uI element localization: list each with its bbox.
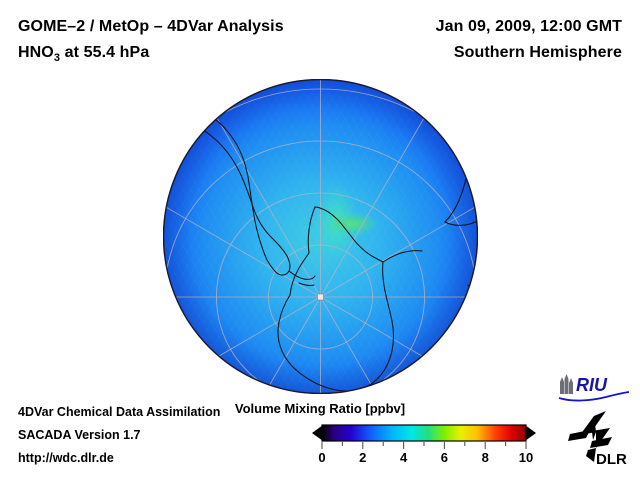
riu-wordmark: RIU — [576, 375, 608, 395]
footer-line-url: http://wdc.dlr.de — [18, 447, 220, 470]
riu-logo: RIU — [558, 372, 630, 402]
graticule-meridians — [163, 79, 478, 394]
colorbar-gradient — [312, 424, 536, 450]
region-label: Southern Hemisphere — [436, 40, 622, 66]
header-left: GOME–2 / MetOp – 4DVar Analysis HNO3 at … — [18, 14, 284, 71]
colorbar-tick-2: 2 — [359, 450, 366, 465]
footer-credits: 4DVar Chemical Data Assimilation SACADA … — [18, 401, 220, 470]
coastlines — [169, 89, 478, 391]
colorbar-tick-8: 8 — [482, 450, 489, 465]
footer-line-method: 4DVar Chemical Data Assimilation — [18, 401, 220, 424]
colorbar-tick-6: 6 — [441, 450, 448, 465]
colorbar-tick-10: 10 — [519, 450, 533, 465]
colorbar-tick-labels: 0 2 4 6 8 10 — [312, 450, 536, 470]
header-right: Jan 09, 2009, 12:00 GMT Southern Hemisph… — [436, 14, 622, 66]
map-globe — [163, 79, 478, 394]
south-pole-marker — [318, 294, 324, 300]
map-overlay-svg — [163, 79, 478, 394]
page-title: GOME–2 / MetOp – 4DVar Analysis — [18, 14, 284, 40]
species-name: HNO — [18, 44, 54, 61]
colorbar-tick-4: 4 — [400, 450, 407, 465]
colorbar-tick-0: 0 — [318, 450, 325, 465]
colorbar: 0 2 4 6 8 10 — [312, 424, 536, 472]
pressure-level: at 55.4 hPa — [60, 44, 149, 61]
dlr-wordmark: DLR — [596, 451, 627, 468]
timestamp-label: Jan 09, 2009, 12:00 GMT — [436, 14, 622, 40]
dlr-logo: DLR — [566, 410, 632, 468]
riu-tower-icon — [560, 374, 573, 394]
visualization-page: GOME–2 / MetOp – 4DVar Analysis HNO3 at … — [0, 0, 640, 480]
footer-line-version: SACADA Version 1.7 — [18, 424, 220, 447]
species-level-label: HNO3 at 55.4 hPa — [18, 40, 284, 71]
